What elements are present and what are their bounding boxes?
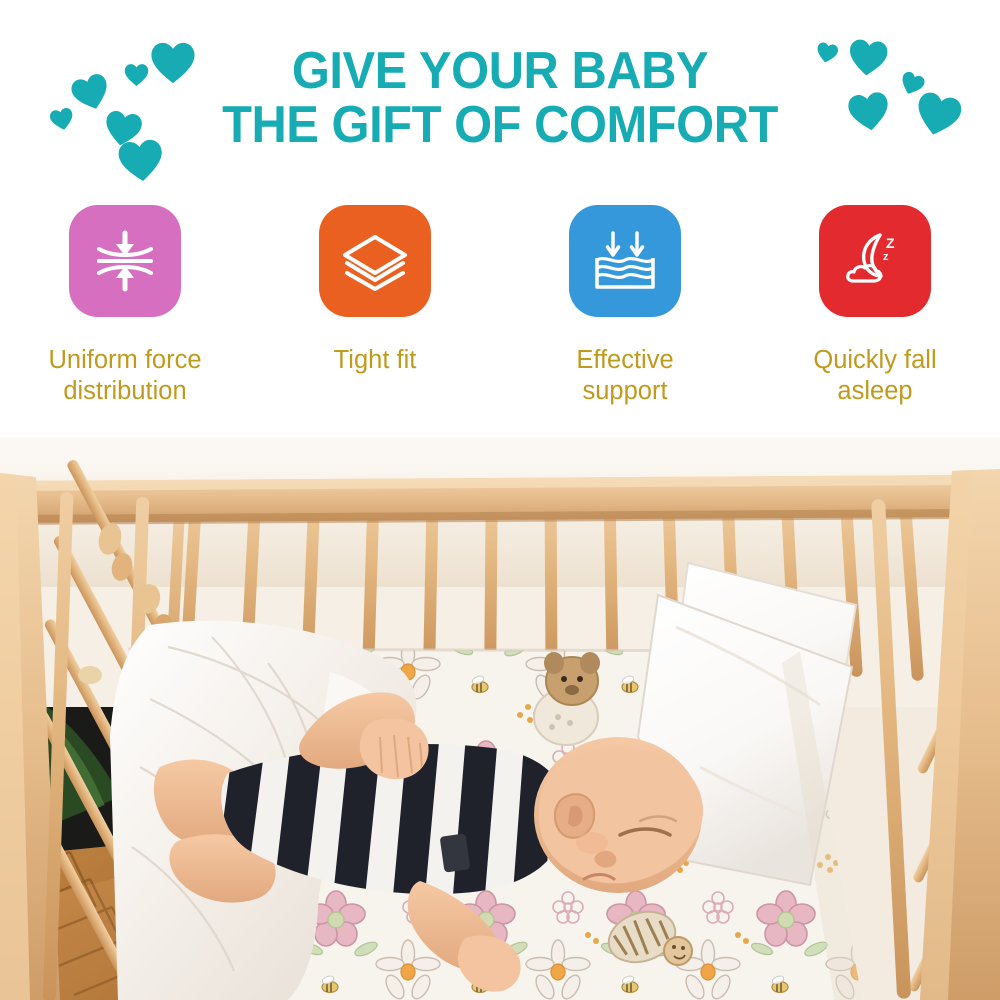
feature-label-line-1: Tight fit (334, 346, 417, 374)
feature-list: Uniform force distribution Ti (0, 205, 1000, 407)
headline-line-2: THE GIFT OF COMFORT (30, 98, 970, 152)
feature-tile (319, 205, 431, 317)
feature-label: Quickly fall asleep (813, 345, 936, 407)
baby-in-crib-photo (0, 437, 1000, 1000)
stacked-layers-icon (339, 225, 411, 297)
feature-label: Effective support (576, 345, 673, 407)
feature-label-line-2: asleep (837, 377, 912, 405)
feature-tile: Z z (819, 205, 931, 317)
product-infographic: GIVE YOUR BABY THE GIFT OF COMFORT (0, 0, 1000, 1000)
svg-text:z: z (883, 251, 889, 263)
feature-label-line-2: support (582, 377, 667, 405)
compression-arrows-icon (89, 225, 161, 297)
feature-label-line-2: distribution (63, 377, 186, 405)
feature-item-effective-support: Effective support (500, 205, 750, 407)
moon-cloud-sleep-icon: Z z (839, 225, 911, 297)
header-section: GIVE YOUR BABY THE GIFT OF COMFORT (0, 0, 1000, 437)
feature-label: Tight fit (334, 345, 417, 376)
feature-item-uniform-force: Uniform force distribution (0, 205, 250, 407)
downward-arrows-waves-icon (589, 225, 661, 297)
feature-label-line-1: Quickly fall (813, 346, 936, 374)
feature-item-quickly-fall-asleep: Z z Quickly fall asleep (750, 205, 1000, 407)
feature-label-line-1: Effective (576, 346, 673, 374)
feature-label-line-1: Uniform force (48, 346, 201, 374)
feature-item-tight-fit: Tight fit (250, 205, 500, 407)
headline-line-1: GIVE YOUR BABY (30, 44, 970, 98)
feature-tile (69, 205, 181, 317)
svg-text:Z: Z (886, 235, 895, 251)
page-title: GIVE YOUR BABY THE GIFT OF COMFORT (30, 44, 970, 152)
feature-tile (569, 205, 681, 317)
crib-scene-illustration (0, 437, 1000, 1000)
feature-label: Uniform force distribution (48, 345, 201, 407)
